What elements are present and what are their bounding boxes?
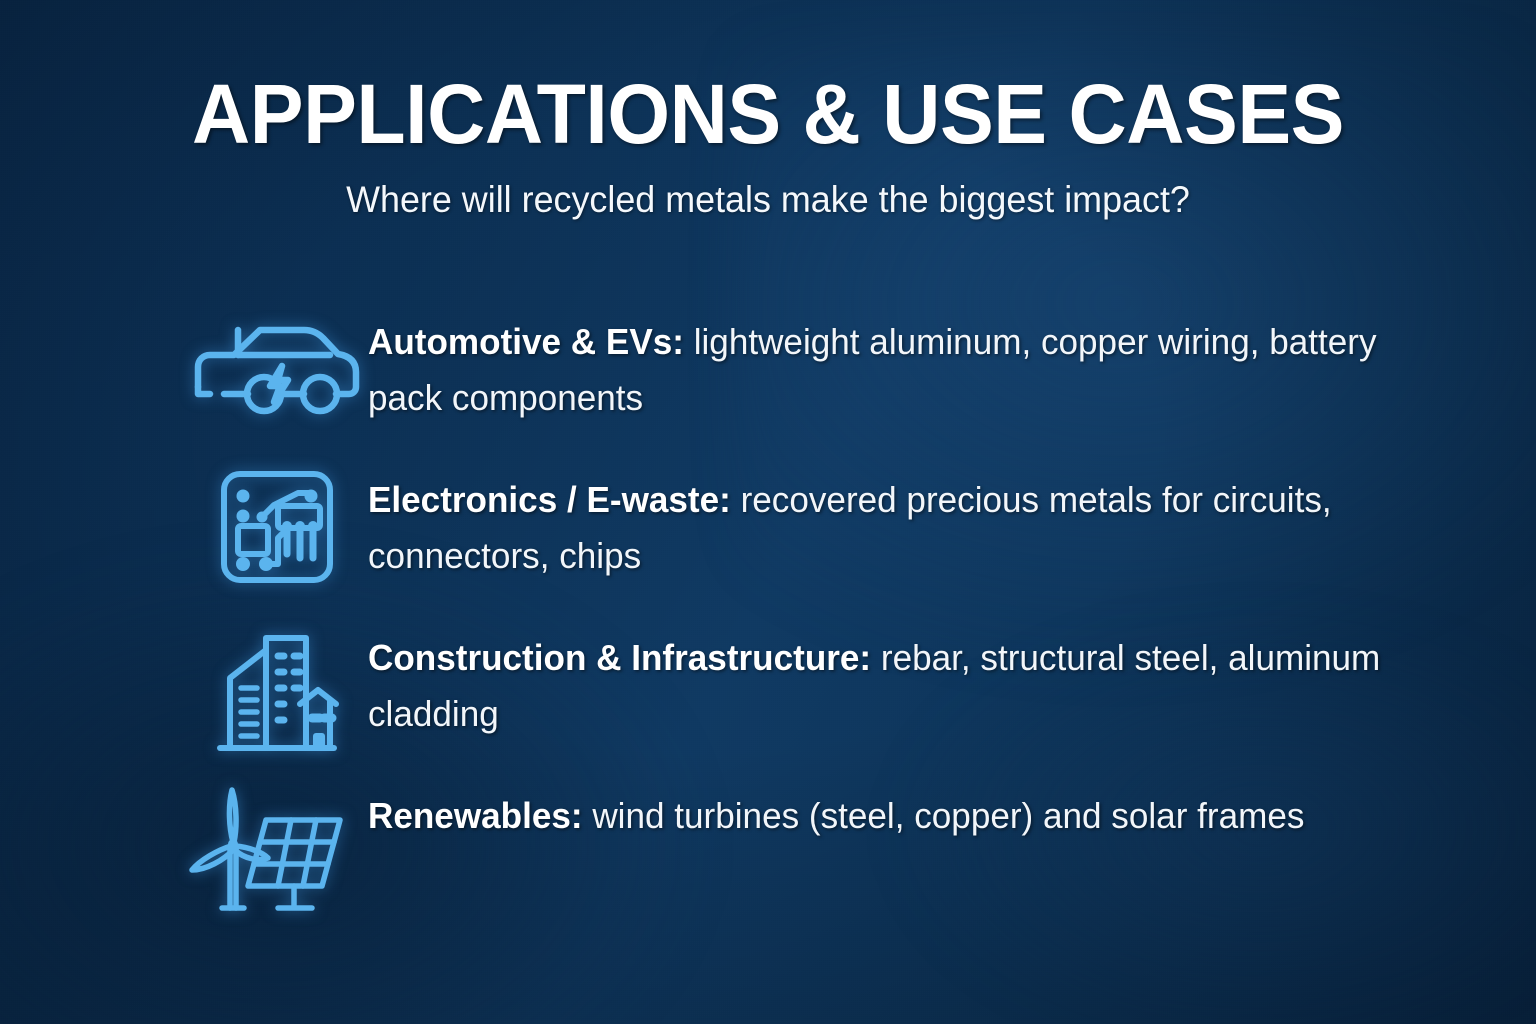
slide-root: APPLICATIONS & USE CASES Where will recy… — [0, 0, 1536, 1024]
list-item: Electronics / E-waste: recovered preciou… — [186, 458, 1466, 616]
list-item-label: Electronics / E-waste: — [368, 479, 731, 520]
list-item-text: Automotive & EVs: lightweight aluminum, … — [368, 300, 1439, 426]
list-item-description: wind turbines (steel, copper) and solar … — [583, 795, 1305, 836]
list-item: Automotive & EVs: lightweight aluminum, … — [186, 300, 1466, 458]
list-item-text: Construction & Infrastructure: rebar, st… — [368, 616, 1439, 742]
applications-list: Automotive & EVs: lightweight aluminum, … — [186, 300, 1466, 932]
electric-car-icon — [186, 300, 368, 420]
list-item: Renewables: wind turbines (steel, copper… — [186, 774, 1466, 932]
page-subtitle: Where will recycled metals make the bigg… — [23, 176, 1513, 224]
list-item-text: Electronics / E-waste: recovered preciou… — [368, 458, 1439, 584]
circuit-board-icon — [186, 458, 368, 586]
page-title: APPLICATIONS & USE CASES — [31, 66, 1506, 162]
renewables-icon — [186, 774, 368, 914]
buildings-icon — [186, 616, 368, 756]
list-item-label: Automotive & EVs: — [368, 321, 684, 362]
list-item-text: Renewables: wind turbines (steel, copper… — [368, 774, 1439, 844]
list-item-label: Construction & Infrastructure: — [368, 637, 871, 678]
slide-content: APPLICATIONS & USE CASES Where will recy… — [0, 0, 1536, 1024]
list-item: Construction & Infrastructure: rebar, st… — [186, 616, 1466, 774]
list-item-label: Renewables: — [368, 795, 583, 836]
